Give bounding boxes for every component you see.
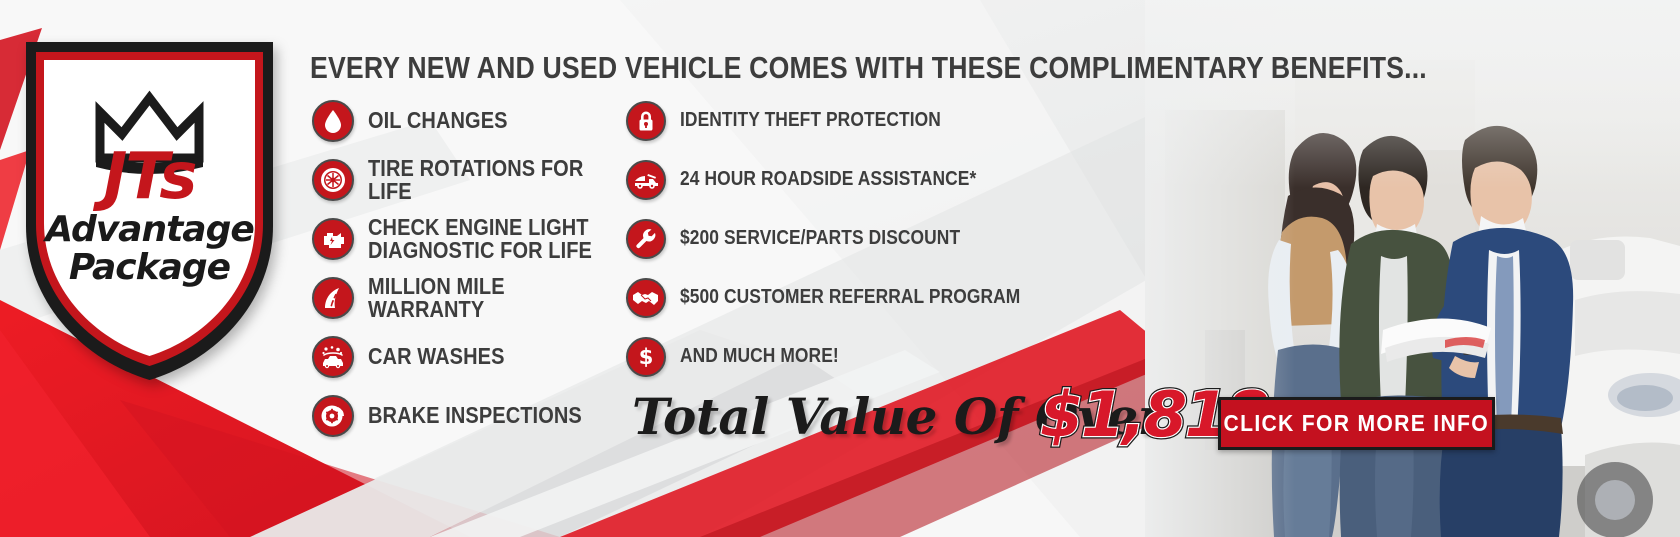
click-for-more-info-button[interactable]: CLICK FOR MORE INFO bbox=[1218, 397, 1495, 450]
shield-shape bbox=[12, 30, 287, 390]
dollar-icon: $ bbox=[626, 337, 666, 377]
benefit-service-parts-discount: $200 SERVICE/PARTS DISCOUNT bbox=[626, 216, 1146, 261]
benefit-label: IDENTITY THEFT PROTECTION bbox=[680, 110, 941, 130]
jts-advantage-logo: JTs Advantage Package bbox=[12, 30, 287, 390]
tire-icon bbox=[312, 159, 354, 201]
car-wash-icon bbox=[312, 336, 354, 378]
benefit-label: CHECK ENGINE LIGHT DIAGNOSTIC FOR LIFE bbox=[368, 216, 592, 263]
engine-icon bbox=[312, 218, 354, 260]
benefit-label: MILLION MILE WARRANTY bbox=[368, 275, 598, 322]
benefit-check-engine: CHECK ENGINE LIGHT DIAGNOSTIC FOR LIFE bbox=[312, 216, 632, 262]
benefit-label: OIL CHANGES bbox=[368, 109, 508, 132]
oil-drop-icon bbox=[312, 100, 354, 142]
benefit-brake-inspections: BRAKE INSPECTIONS bbox=[312, 393, 632, 439]
handshake-icon bbox=[626, 278, 666, 318]
benefit-car-washes: CAR WASHES bbox=[312, 334, 632, 380]
benefit-label: 24 HOUR ROADSIDE ASSISTANCE* bbox=[680, 169, 976, 189]
svg-text:$: $ bbox=[639, 345, 654, 369]
benefit-label: AND MUCH MORE! bbox=[680, 346, 839, 366]
benefit-roadside-assistance: 24 HOUR ROADSIDE ASSISTANCE* bbox=[626, 157, 1146, 202]
benefit-referral-program: $500 CUSTOMER REFERRAL PROGRAM bbox=[626, 275, 1146, 320]
benefit-label: $200 SERVICE/PARTS DISCOUNT bbox=[680, 228, 960, 248]
wrench-icon bbox=[626, 219, 666, 259]
road-icon bbox=[312, 277, 354, 319]
benefits-column-right: IDENTITY THEFT PROTECTION 24 HOUR ROADSI… bbox=[626, 98, 1146, 393]
benefit-label: BRAKE INSPECTIONS bbox=[368, 404, 582, 427]
benefit-label: $500 CUSTOMER REFERRAL PROGRAM bbox=[680, 287, 1020, 307]
brake-rotor-icon bbox=[312, 395, 354, 437]
benefit-label: CAR WASHES bbox=[368, 345, 505, 368]
benefit-million-mile-warranty: MILLION MILE WARRANTY bbox=[312, 275, 632, 321]
tow-truck-icon bbox=[626, 160, 666, 200]
benefits-column-left: OIL CHANGES TIRE ROTATIONS FOR LI bbox=[312, 98, 632, 452]
benefit-label: TIRE ROTATIONS FOR LIFE bbox=[368, 157, 598, 204]
advantage-package-banner: JTs Advantage Package EVERY NEW AND USED… bbox=[0, 0, 1680, 537]
benefit-oil-changes: OIL CHANGES bbox=[312, 98, 632, 144]
benefit-identity-theft: IDENTITY THEFT PROTECTION bbox=[626, 98, 1146, 143]
benefit-and-much-more: $ AND MUCH MORE! bbox=[626, 334, 1146, 379]
benefit-tire-rotations: TIRE ROTATIONS FOR LIFE bbox=[312, 157, 632, 203]
headline: EVERY NEW AND USED VEHICLE COMES WITH TH… bbox=[310, 50, 1427, 86]
lock-icon bbox=[626, 101, 666, 141]
cta-label: CLICK FOR MORE INFO bbox=[1224, 410, 1489, 437]
